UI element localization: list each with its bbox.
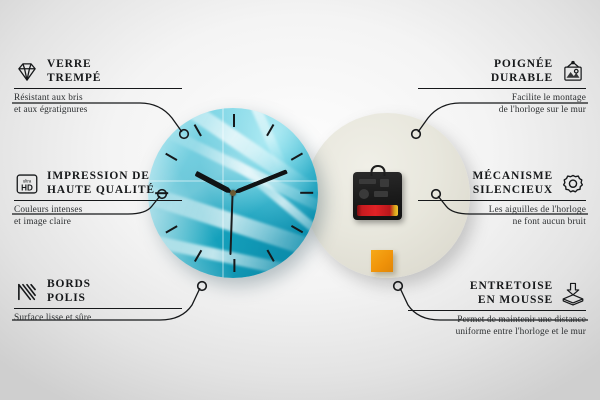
title-rule [418,88,586,89]
feature-title: VERRETREMPÉ [47,58,101,85]
gear-icon [560,172,586,196]
feature-bords-polis[interactable]: BORDSPOLIS Surface lisse et sûre [14,278,182,325]
feature-mecanisme-silencieux[interactable]: MÉCANISMESILENCIEUX Les aiguilles de l'h… [418,170,586,228]
title-rule [14,200,182,201]
hour-marker [233,114,235,127]
feature-title-row: VERRETREMPÉ [14,58,182,85]
clock-mechanism [353,172,402,220]
mechanism-detail [374,191,388,197]
feature-description: Les aiguilles de l'horlogene font aucun … [418,205,586,228]
hour-marker [233,259,235,272]
feature-description: Résistant aux briset aux égratignures [14,93,182,116]
mechanism-detail [359,179,376,184]
clock-center-pin [230,190,236,196]
feature-title: IMPRESSION DEHAUTE QUALITÉ [47,170,155,197]
feature-description: Surface lisse et sûre [14,313,182,325]
diagonal-stripes-icon [14,280,40,304]
connector-endpoint [198,282,207,291]
picture-frame-hanger-icon [560,60,586,84]
title-rule [14,308,182,309]
diamond-icon [14,60,40,84]
feature-title-row: MÉCANISMESILENCIEUX [418,170,586,197]
feature-title-row: POIGNÉEDURABLE [418,58,586,85]
connector-endpoint [394,282,403,291]
feature-title-row: ultra HD IMPRESSION DEHAUTE QUALITÉ [14,170,182,197]
feature-title: POIGNÉEDURABLE [491,58,553,85]
mechanism-detail [380,179,389,187]
clock-battery [357,205,398,216]
feature-description: Couleurs intenseset image claire [14,205,182,228]
title-rule [418,200,586,201]
feature-entretoise-en-mousse[interactable]: ENTRETOISEEN MOUSSE Permet de maintenir … [408,280,586,338]
feature-impression-haute-qualite[interactable]: ultra HD IMPRESSION DEHAUTE QUALITÉ Coul… [14,170,182,228]
foam-pad-arrow-icon [560,282,586,306]
feature-title: BORDSPOLIS [47,278,91,305]
hour-marker [165,152,177,161]
ultra-hd-icon: ultra HD [14,172,40,196]
foam-spacer [371,250,393,272]
infographic-stage: VERRETREMPÉ Résistant aux briset aux égr… [0,0,600,400]
hanger-loop-icon [370,165,385,176]
feature-description: Permet de maintenir une distanceuniforme… [408,315,586,338]
hour-marker [300,192,313,194]
svg-text:ultra: ultra [23,178,32,183]
feature-description: Facilite le montagede l'horloge sur le m… [418,93,586,116]
hour-hand [195,171,235,196]
title-rule [14,88,182,89]
feature-title: ENTRETOISEEN MOUSSE [470,280,553,307]
hour-marker [291,152,303,161]
mechanism-detail [359,189,369,199]
title-rule [408,310,586,311]
feature-title-row: ENTRETOISEEN MOUSSE [408,280,586,307]
feature-title-row: BORDSPOLIS [14,278,182,305]
feature-verre-trempe[interactable]: VERRETREMPÉ Résistant aux briset aux égr… [14,58,182,116]
svg-text:HD: HD [21,183,33,192]
feature-title: MÉCANISMESILENCIEUX [473,170,554,197]
feature-poignee-durable[interactable]: POIGNÉEDURABLE Facilite le montagede l'h… [418,58,586,116]
